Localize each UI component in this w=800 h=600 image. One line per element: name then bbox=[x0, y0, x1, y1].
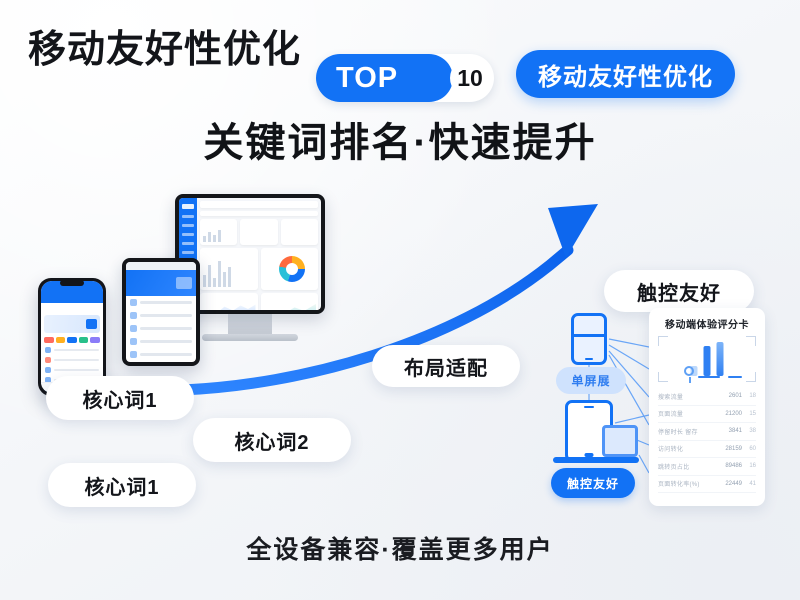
row-label: 页面转化率(%) bbox=[658, 479, 718, 488]
row-value: 28159 bbox=[718, 446, 742, 452]
keyword-pill-2[interactable]: 核心词2 bbox=[193, 418, 351, 462]
row-extra: 38 bbox=[742, 428, 756, 434]
stat-card bbox=[200, 219, 237, 245]
table-row: 停留时长 留存384138 bbox=[658, 423, 756, 441]
area-chart-card bbox=[261, 293, 319, 310]
top-badge-number: 10 bbox=[450, 58, 490, 98]
table-row: 跳转页占比8948616 bbox=[658, 458, 756, 476]
device-diagram: 单屏展 触控友好 移动端体验评分卡 搜索流量260118页面流量212 bbox=[545, 305, 765, 510]
hero-bar-chart bbox=[691, 342, 724, 376]
list-item bbox=[41, 345, 103, 355]
score-card-table: 搜索流量260118页面流量2120015停留时长 留存384138访问转化28… bbox=[658, 388, 756, 493]
table-row: 页面转化率(%)2244941 bbox=[658, 476, 756, 494]
list-item bbox=[41, 365, 103, 375]
hero-baseline bbox=[698, 376, 720, 378]
top-badge-word: TOP bbox=[336, 62, 398, 95]
tablet-statusbar bbox=[126, 262, 196, 270]
row-value: 2601 bbox=[718, 393, 742, 399]
donut-chart bbox=[279, 256, 305, 282]
donut-chart-card bbox=[261, 248, 319, 290]
list-item bbox=[126, 361, 196, 362]
row-extra: 41 bbox=[742, 481, 756, 487]
header-tag-pill: 移动友好性优化 bbox=[516, 50, 735, 98]
top-badge-blue-pill: TOP bbox=[316, 54, 453, 102]
stat-card bbox=[240, 219, 277, 245]
phone-notch bbox=[60, 280, 84, 286]
keyword-pill-1[interactable]: 核心词1 bbox=[46, 376, 194, 420]
bracket-top-left bbox=[658, 336, 668, 346]
poster-canvas: 移动友好性优化 TOP 10 移动友好性优化 关键词排名·快速提升 bbox=[0, 0, 800, 600]
keyword-pill-layout[interactable]: 布局适配 bbox=[372, 345, 520, 387]
score-card: 移动端体验评分卡 搜索流量260118页面流量2120015停留时长 留存384… bbox=[649, 308, 765, 506]
row-extra: 18 bbox=[742, 393, 756, 399]
hero-magnifier-icon bbox=[684, 366, 694, 376]
dashboard-filterbar bbox=[200, 211, 318, 216]
tablet-screen bbox=[126, 262, 196, 362]
area-chart-card bbox=[200, 293, 258, 310]
monitor-stand bbox=[228, 314, 272, 336]
top-rank-badge: TOP 10 bbox=[316, 54, 494, 102]
dashboard-body bbox=[197, 198, 321, 310]
area-chart bbox=[202, 301, 256, 310]
row-extra: 15 bbox=[742, 411, 756, 417]
keyword-pill-3[interactable]: 核心词1 bbox=[48, 463, 196, 507]
page-subtitle: 关键词排名·快速提升 bbox=[0, 118, 800, 168]
score-card-chart bbox=[658, 336, 756, 382]
hero-baseline bbox=[728, 376, 742, 378]
bracket-bottom-right bbox=[746, 372, 756, 382]
score-card-title: 移动端体验评分卡 bbox=[658, 316, 756, 331]
list-item bbox=[126, 322, 196, 335]
laptop-base bbox=[553, 457, 639, 463]
row-label: 搜索流量 bbox=[658, 392, 718, 401]
row-value: 3841 bbox=[718, 428, 742, 434]
table-row: 访问转化2815960 bbox=[658, 441, 756, 459]
device-mockup-group bbox=[20, 186, 340, 386]
tablet-banner bbox=[126, 270, 196, 296]
diagram-tag-touch-friendly[interactable]: 触控友好 bbox=[551, 468, 635, 498]
row-extra: 16 bbox=[742, 463, 756, 469]
phone-icon-row bbox=[41, 335, 103, 345]
row-label: 访问转化 bbox=[658, 444, 718, 453]
line-chart-card bbox=[200, 248, 258, 290]
phone-search-bar bbox=[45, 305, 99, 313]
row-extra: 60 bbox=[742, 446, 756, 452]
page-title: 移动友好性优化 bbox=[28, 28, 301, 72]
list-item bbox=[41, 355, 103, 365]
footer-text: 全设备兼容·覆盖更多用户 bbox=[0, 530, 800, 566]
row-value: 89486 bbox=[718, 463, 742, 469]
smartphone-icon bbox=[571, 313, 607, 365]
diagram-tag-single-screen[interactable]: 单屏展 bbox=[556, 367, 626, 394]
row-label: 页面流量 bbox=[658, 409, 718, 418]
list-item bbox=[126, 296, 196, 309]
phone-promo-card bbox=[44, 315, 100, 333]
dashboard-stat-row bbox=[200, 219, 318, 245]
monitor-base bbox=[202, 334, 298, 341]
stat-card bbox=[281, 219, 318, 245]
list-item bbox=[126, 335, 196, 348]
row-value: 22449 bbox=[718, 481, 742, 487]
laptop-icon bbox=[602, 425, 638, 457]
table-row: 搜索流量260118 bbox=[658, 388, 756, 406]
list-item bbox=[126, 309, 196, 322]
bracket-bottom-left bbox=[658, 372, 668, 382]
dashboard-chart-row bbox=[200, 248, 318, 290]
bracket-top-right bbox=[746, 336, 756, 346]
list-item bbox=[126, 348, 196, 361]
area-chart bbox=[263, 301, 317, 310]
row-value: 21200 bbox=[718, 411, 742, 417]
table-row: 页面流量2120015 bbox=[658, 406, 756, 424]
dashboard-topbar bbox=[200, 201, 318, 208]
tablet-icon bbox=[122, 258, 200, 366]
row-label: 跳转页占比 bbox=[658, 462, 718, 471]
dashboard-area-row bbox=[200, 293, 318, 310]
row-label: 停留时长 留存 bbox=[658, 427, 718, 436]
monitor-screen bbox=[179, 198, 321, 310]
